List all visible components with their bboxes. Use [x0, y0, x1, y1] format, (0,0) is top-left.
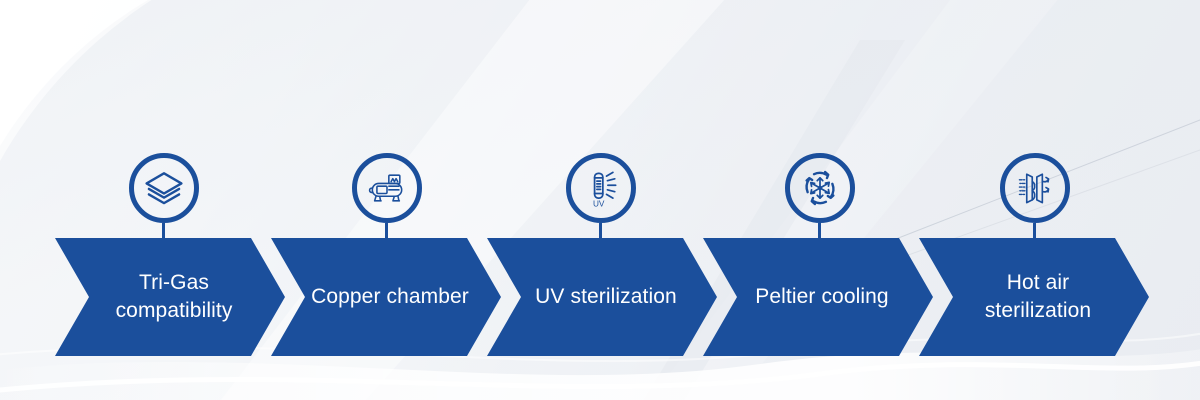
chevron-hot-air-sterilization[interactable]: Hot air sterilization: [919, 238, 1149, 356]
uv-lamp-icon: UV: [579, 166, 623, 210]
chevron-copper-chamber[interactable]: Copper chamber: [271, 238, 501, 356]
chevron-tri-gas-compatibility[interactable]: Tri-Gas compatibility: [55, 238, 285, 356]
layers-stack-icon: [142, 166, 186, 210]
badge-tri-gas-compatibility[interactable]: [129, 153, 199, 223]
uv-icon-text: UV: [593, 199, 605, 208]
step-label: Copper chamber: [289, 283, 483, 311]
process-infographic: Tri-Gas compatibility: [0, 0, 1200, 400]
step-label: Tri-Gas compatibility: [94, 269, 247, 324]
chevron-peltier-cooling[interactable]: Peltier cooling: [703, 238, 933, 356]
step-label: Peltier cooling: [733, 283, 902, 311]
badge-uv-sterilization[interactable]: UV: [566, 153, 636, 223]
air-filter-plates-icon: [1013, 166, 1057, 210]
step-label: UV sterilization: [513, 283, 691, 311]
badge-peltier-cooling[interactable]: [785, 153, 855, 223]
chevron-uv-sterilization[interactable]: UV sterilization: [487, 238, 717, 356]
badge-hot-air-sterilization[interactable]: [1000, 153, 1070, 223]
badge-copper-chamber[interactable]: [352, 153, 422, 223]
air-compressor-tank-icon: [365, 166, 409, 210]
snowflake-cooling-cycle-icon: [798, 166, 842, 210]
step-list: Tri-Gas compatibility: [0, 0, 1200, 400]
step-label: Hot air sterilization: [963, 269, 1105, 324]
